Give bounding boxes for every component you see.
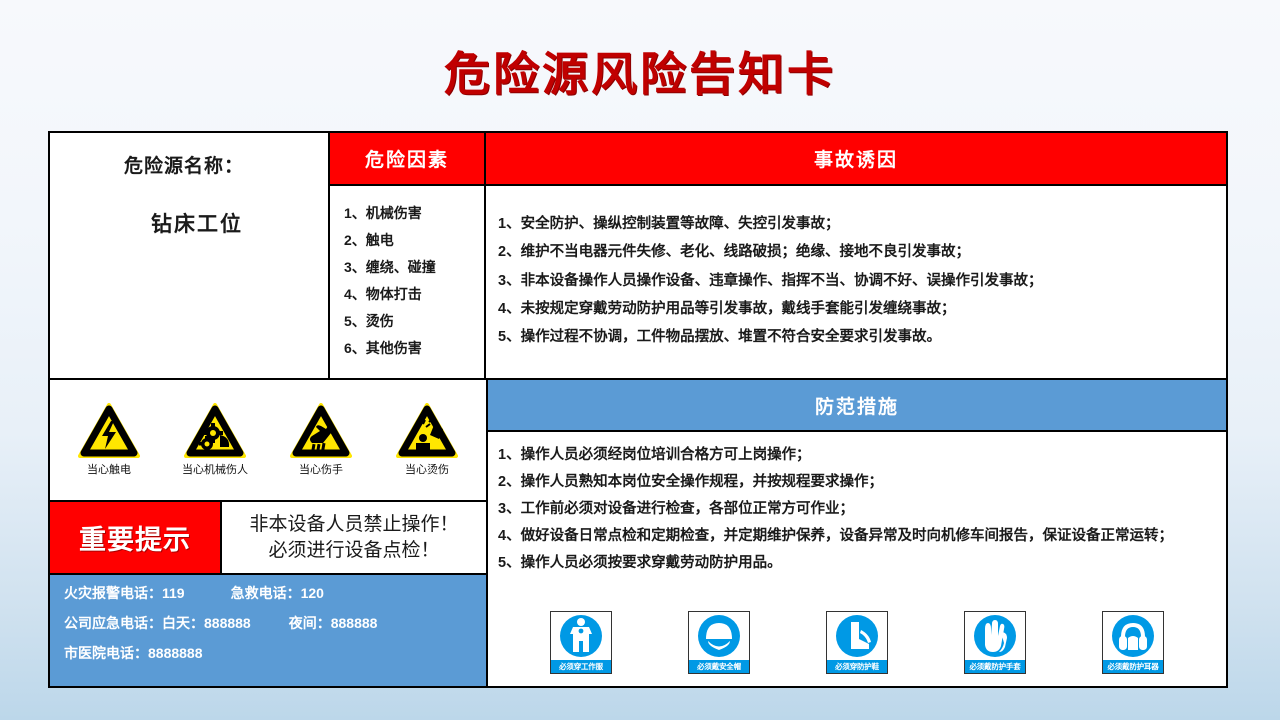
warning-sign-caption: 当心机械伤人	[167, 461, 263, 477]
warning-sign: 当心烫伤	[379, 403, 475, 477]
right-bottom-column: 防范措施 1、操作人员必须经岗位培训合格方可上岗操作； 2、操作人员熟知本岗位安…	[488, 380, 1226, 686]
accident-cause-list: 1、安全防护、操纵控制装置等故障、失控引发事故； 2、维护不当电器元件失修、老化…	[486, 186, 1226, 378]
phone-line: 公司应急电话：白天：888888 夜间：888888	[64, 616, 486, 630]
risk-notice-card: 危险源名称： 钻床工位 危险因素 1、机械伤害 2、触电 3、缠绕、碰撞 4、物…	[48, 131, 1228, 688]
ppe-sign-group: 必须穿工作服 必须戴安全帽	[488, 611, 1226, 686]
card-top-row: 危险源名称： 钻床工位 危险因素 1、机械伤害 2、触电 3、缠绕、碰撞 4、物…	[50, 133, 1226, 380]
hazard-name-cell: 危险源名称： 钻床工位	[50, 133, 330, 378]
ppe-sign: 必须戴防护手套	[964, 611, 1026, 674]
list-item: 5、操作人员必须按要求穿戴劳动防护用品。	[498, 550, 1218, 577]
ear-protection-mandatory-icon	[1103, 612, 1163, 660]
risk-factor-list: 1、机械伤害 2、触电 3、缠绕、碰撞 4、物体打击 5、烫伤 6、其他伤害	[330, 186, 484, 378]
list-item: 1、操作人员必须经岗位培训合格方可上岗操作；	[498, 442, 1218, 469]
hazard-name-value: 钻床工位	[50, 208, 318, 238]
machinery-injury-warning-icon	[184, 403, 246, 459]
fire-alarm-phone: 火灾报警电话：119	[64, 586, 185, 600]
warning-sign: 当心伤手	[273, 403, 369, 477]
work-clothes-mandatory-icon	[551, 612, 611, 660]
warning-sign-caption: 当心烫伤	[379, 461, 475, 477]
warning-sign: 当心触电	[61, 403, 157, 477]
electric-shock-warning-icon	[78, 403, 140, 459]
important-notice-badge: 重要提示	[50, 502, 222, 573]
risk-factor-header: 危险因素	[330, 133, 484, 186]
phone-line: 市医院电话：8888888	[64, 646, 486, 660]
list-item: 6、其他伤害	[344, 335, 484, 362]
list-item: 2、维护不当电器元件失修、老化、线路破损；绝缘、接地不良引发事故；	[498, 238, 1216, 266]
list-item: 1、机械伤害	[344, 200, 484, 227]
list-item: 3、工作前必须对设备进行检查，各部位正常方可作业；	[498, 496, 1218, 523]
phone-line: 火灾报警电话：119 急救电话：120	[64, 586, 486, 600]
ppe-sign: 必须穿工作服	[550, 611, 612, 674]
list-item: 4、物体打击	[344, 281, 484, 308]
company-day-phone: 公司应急电话：白天：888888	[64, 616, 251, 630]
warning-sign-group: 当心触电	[50, 380, 486, 502]
accident-cause-header: 事故诱因	[486, 133, 1226, 186]
list-item: 3、非本设备操作人员操作设备、违章操作、指挥不当、协调不好、误操作引发事故；	[498, 267, 1216, 295]
risk-factor-column: 危险因素 1、机械伤害 2、触电 3、缠绕、碰撞 4、物体打击 5、烫伤 6、其…	[330, 133, 486, 378]
hand-injury-warning-icon	[290, 403, 352, 459]
burn-warning-icon	[396, 403, 458, 459]
prevention-measure-list: 1、操作人员必须经岗位培训合格方可上岗操作； 2、操作人员熟知本岗位安全操作规程…	[488, 432, 1226, 578]
ppe-sign: 必须戴安全帽	[688, 611, 750, 674]
list-item: 5、操作过程不协调，工件物品摆放、堆置不符合安全要求引发事故。	[498, 323, 1216, 351]
list-item: 4、做好设备日常点检和定期检查，并定期维护保养，设备异常及时向机修车间报告，保证…	[498, 523, 1218, 550]
accident-cause-column: 事故诱因 1、安全防护、操纵控制装置等故障、失控引发事故； 2、维护不当电器元件…	[486, 133, 1226, 378]
city-hospital-phone: 市医院电话：8888888	[64, 646, 203, 660]
ppe-sign-caption: 必须戴防护耳器	[1103, 660, 1163, 673]
list-item: 1、安全防护、操纵控制装置等故障、失控引发事故；	[498, 210, 1216, 238]
ppe-sign-caption: 必须穿防护鞋	[827, 660, 887, 673]
card-bottom-row: 当心触电	[50, 380, 1226, 686]
list-item: 2、操作人员熟知本岗位安全操作规程，并按规程要求操作；	[498, 469, 1218, 496]
warning-sign: 当心机械伤人	[167, 403, 263, 477]
list-item: 4、未按规定穿戴劳动防护用品等引发事故，戴线手套能引发缠绕事故；	[498, 295, 1216, 323]
important-notice-text: 非本设备人员禁止操作！ 必须进行设备点检！	[222, 502, 486, 573]
page-title: 危险源风险告知卡	[0, 38, 1280, 104]
left-bottom-column: 当心触电	[50, 380, 488, 686]
important-notice-line1: 非本设备人员禁止操作！	[249, 512, 458, 537]
important-notice-line2: 必须进行设备点检！	[268, 538, 439, 563]
ppe-sign: 必须穿防护鞋	[826, 611, 888, 674]
prevention-measure-header: 防范措施	[488, 380, 1226, 432]
ppe-sign: 必须戴防护耳器	[1102, 611, 1164, 674]
list-item: 2、触电	[344, 227, 484, 254]
first-aid-phone: 急救电话：120	[231, 586, 324, 600]
warning-sign-caption: 当心伤手	[273, 461, 369, 477]
safety-shoes-mandatory-icon	[827, 612, 887, 660]
list-item: 3、缠绕、碰撞	[344, 254, 484, 281]
ppe-sign-caption: 必须戴防护手套	[965, 660, 1025, 673]
safety-helmet-mandatory-icon	[689, 612, 749, 660]
ppe-sign-caption: 必须穿工作服	[551, 660, 611, 673]
safety-gloves-mandatory-icon	[965, 612, 1025, 660]
list-item: 5、烫伤	[344, 308, 484, 335]
emergency-phone-panel: 火灾报警电话：119 急救电话：120 公司应急电话：白天：888888 夜间：…	[50, 575, 486, 686]
warning-sign-caption: 当心触电	[61, 461, 157, 477]
company-night-phone: 夜间：888888	[289, 616, 378, 630]
ppe-sign-caption: 必须戴安全帽	[689, 660, 749, 673]
hazard-name-label: 危险源名称：	[50, 151, 318, 178]
important-notice-row: 重要提示 非本设备人员禁止操作！ 必须进行设备点检！	[50, 502, 486, 575]
